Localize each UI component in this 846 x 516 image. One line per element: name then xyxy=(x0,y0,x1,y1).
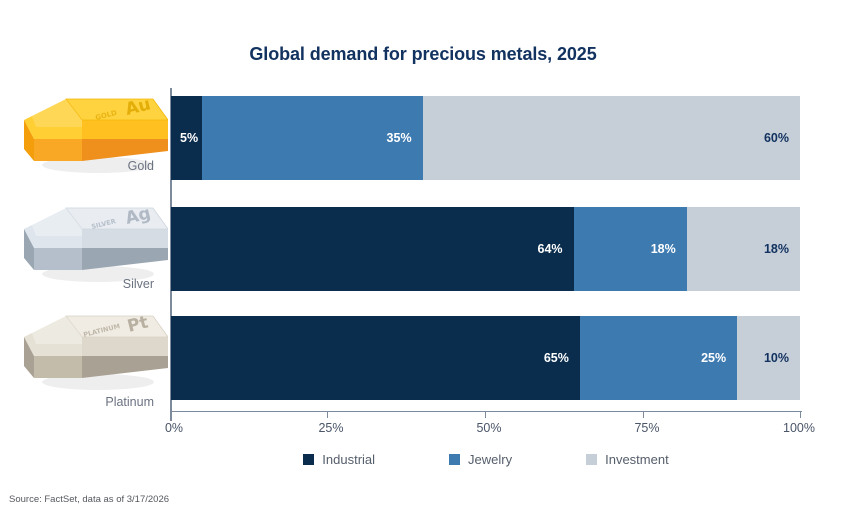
bar-segment-silver-industrial[interactable]: 64% xyxy=(171,207,574,291)
bar-label-silver-jewelry: 18% xyxy=(651,242,687,256)
bar-segment-gold-industrial[interactable]: 5% xyxy=(171,96,202,180)
bar-row-platinum: 65% 25% 10% xyxy=(171,316,800,400)
x-axis-tick-100 xyxy=(800,412,801,418)
legend-swatch-investment xyxy=(586,454,597,465)
chart-title: Global demand for precious metals, 2025 xyxy=(0,44,846,65)
bar-segment-gold-jewelry[interactable]: 35% xyxy=(202,96,422,180)
bar-label-gold-industrial: 5% xyxy=(171,131,198,145)
x-axis-tick-label-50: 50% xyxy=(476,421,501,435)
legend-label-investment: Investment xyxy=(605,452,669,467)
bar-segment-silver-investment[interactable]: 18% xyxy=(687,207,800,291)
bar-segment-gold-investment[interactable]: 60% xyxy=(423,96,800,180)
bar-segment-platinum-jewelry[interactable]: 25% xyxy=(580,316,737,400)
bar-label-platinum-investment: 10% xyxy=(764,351,800,365)
x-axis-line xyxy=(171,411,802,412)
bar-segment-silver-jewelry[interactable]: 18% xyxy=(574,207,687,291)
legend-item-industrial[interactable]: Industrial xyxy=(303,452,375,467)
bar-row-silver: 64% 18% 18% xyxy=(171,207,800,291)
bar-row-gold: 5% 35% 60% xyxy=(171,96,800,180)
bar-segment-platinum-investment[interactable]: 10% xyxy=(737,316,800,400)
bar-label-gold-investment: 60% xyxy=(764,131,800,145)
category-label-gold: Gold xyxy=(128,159,154,173)
bar-segment-platinum-industrial[interactable]: 65% xyxy=(171,316,580,400)
bar-label-gold-jewelry: 35% xyxy=(387,131,423,145)
x-axis-tick-25 xyxy=(327,412,328,418)
x-axis-tick-label-25: 25% xyxy=(318,421,343,435)
x-axis-tick-label-75: 75% xyxy=(634,421,659,435)
bar-label-platinum-jewelry: 25% xyxy=(701,351,737,365)
legend-item-investment[interactable]: Investment xyxy=(586,452,669,467)
bar-label-silver-investment: 18% xyxy=(764,242,800,256)
x-axis-tick-75 xyxy=(643,412,644,418)
x-axis-tick-label-100: 100% xyxy=(783,421,815,435)
category-label-platinum: Platinum xyxy=(105,395,154,409)
x-axis-tick-label-0: 0% xyxy=(165,421,183,435)
x-axis-tick-50 xyxy=(485,412,486,418)
bar-label-platinum-industrial: 65% xyxy=(544,351,580,365)
legend-label-industrial: Industrial xyxy=(322,452,375,467)
platinum-ingot-icon: Pt PLATINUM xyxy=(22,304,168,396)
legend-swatch-jewelry xyxy=(449,454,460,465)
silver-ingot-icon: Ag SILVER xyxy=(22,196,168,288)
chart-legend: Industrial Jewelry Investment xyxy=(171,452,801,467)
legend-item-jewelry[interactable]: Jewelry xyxy=(449,452,512,467)
source-note: Source: FactSet, data as of 3/17/2026 xyxy=(9,494,169,505)
legend-swatch-industrial xyxy=(303,454,314,465)
category-label-silver: Silver xyxy=(123,277,154,291)
chart-container: Global demand for precious metals, 2025 … xyxy=(0,0,846,516)
legend-label-jewelry: Jewelry xyxy=(468,452,512,467)
bar-label-silver-industrial: 64% xyxy=(538,242,574,256)
x-axis-tick-0 xyxy=(170,412,172,421)
